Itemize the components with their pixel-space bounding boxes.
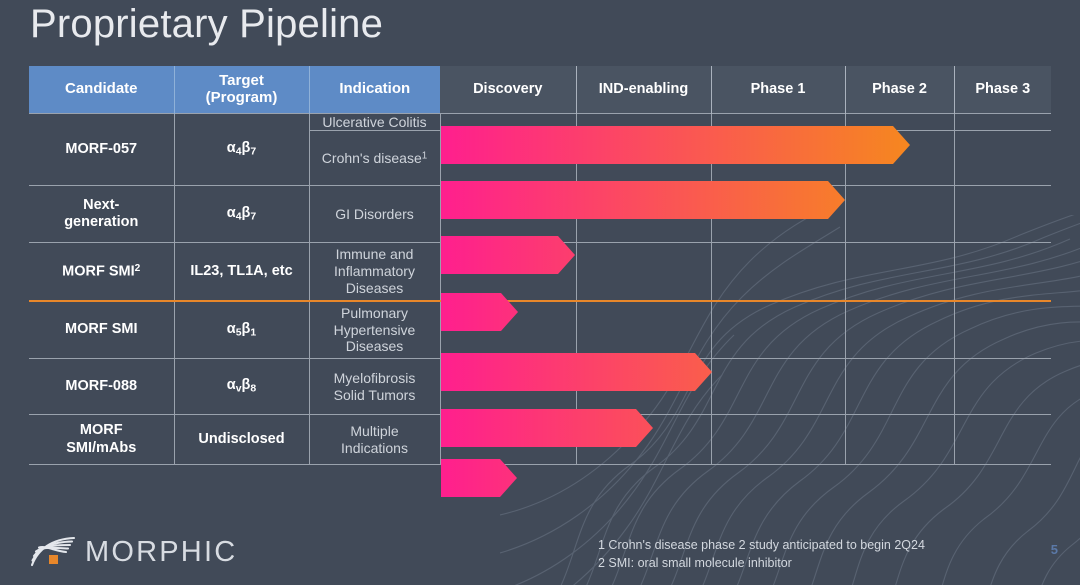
target-beta-sub: 1: [250, 327, 256, 338]
stage-cell: [711, 301, 845, 359]
target-alpha: α: [227, 321, 236, 337]
candidate-label: MORF SMI: [62, 263, 135, 279]
page-title: Proprietary Pipeline: [30, 2, 383, 47]
indication-line1: Myelofibrosis: [310, 370, 440, 387]
stage-cell: [845, 359, 954, 415]
cell-indication-immune-inflammatory: Immune and Inflammatory Diseases: [309, 243, 440, 301]
target-alpha: α: [227, 140, 236, 156]
stage-cell: [440, 301, 576, 359]
cell-candidate-morf-088: MORF-088: [29, 359, 174, 415]
stage-cell: [845, 131, 954, 186]
cell-target-avb8: αvβ8: [174, 359, 309, 415]
stage-cell: [845, 301, 954, 359]
header-stage-phase-1: Phase 1: [711, 66, 845, 113]
indication-line3: Diseases: [310, 338, 440, 355]
stage-cell: [440, 186, 576, 243]
cell-target-next-generation: α4β7: [174, 186, 309, 243]
cell-target-il23: IL23, TL1A, etc: [174, 243, 309, 301]
stage-cell: [440, 243, 576, 301]
morphic-logo: MORPHIC: [30, 535, 237, 569]
indication-label: Crohn's disease: [322, 150, 422, 166]
page-number: 5: [1051, 542, 1058, 557]
stage-cell: [711, 415, 845, 465]
stage-cell: [711, 243, 845, 301]
target-beta-sub: 7: [250, 146, 256, 157]
indication-line1: Pulmonary: [310, 305, 440, 322]
stage-cell: [440, 415, 576, 465]
cell-candidate-morf-057: MORF-057: [29, 113, 174, 186]
stage-cell: [576, 415, 711, 465]
stage-cell: [576, 186, 711, 243]
stage-cell: [954, 415, 1051, 465]
cell-indication-multiple: Multiple Indications: [309, 415, 440, 465]
cell-target-a5b1: α5β1: [174, 301, 309, 359]
stage-cell: [576, 359, 711, 415]
header-target-program: Target (Program): [174, 66, 309, 113]
indication-line2: Indications: [310, 440, 440, 457]
candidate-line1: Next-: [29, 197, 174, 214]
target-alpha: α: [227, 377, 236, 393]
table-row: MORF SMI α5β1 Pulmonary Hypertensive Dis…: [29, 301, 1051, 359]
target-beta-sub: 7: [250, 211, 256, 222]
table-header-row: Candidate Target (Program) Indication Di…: [29, 66, 1051, 113]
stage-cell: [845, 415, 954, 465]
stage-cell: [576, 131, 711, 186]
stage-cell: [711, 113, 845, 131]
header-target-line2: (Program): [175, 89, 309, 107]
header-candidate: Candidate: [29, 66, 174, 113]
cell-candidate-morf-smi-2: MORF SMI2: [29, 243, 174, 301]
footnote-marker: 1: [422, 150, 427, 161]
stage-cell: [845, 243, 954, 301]
header-stage-discovery: Discovery: [440, 66, 576, 113]
table-row: MORF SMI2 IL23, TL1A, etc Immune and Inf…: [29, 243, 1051, 301]
stage-cell: [954, 359, 1051, 415]
cell-indication-ulcerative-colitis: Ulcerative Colitis: [309, 113, 440, 131]
morphic-swoosh-icon: [30, 535, 76, 569]
indication-line2: Hypertensive: [310, 322, 440, 339]
stage-cell: [576, 243, 711, 301]
stage-cell: [954, 186, 1051, 243]
cell-indication-gi-disorders: GI Disorders: [309, 186, 440, 243]
stage-cell: [711, 131, 845, 186]
stage-cell: [440, 359, 576, 415]
stage-cell: [576, 301, 711, 359]
table-row: Next- generation α4β7 GI Disorders: [29, 186, 1051, 243]
stage-cell: [711, 186, 845, 243]
footnote-marker: 2: [135, 263, 141, 274]
table-row: MORF-057 α4β7 Ulcerative Colitis: [29, 113, 1051, 131]
stage-cell: [440, 131, 576, 186]
indication-line2: Inflammatory: [310, 263, 440, 280]
candidate-line2: generation: [29, 214, 174, 231]
header-stage-ind-enabling: IND-enabling: [576, 66, 711, 113]
stage-cell: [845, 113, 954, 131]
table-row: MORF-088 αvβ8 Myelofibrosis Solid Tumors: [29, 359, 1051, 415]
header-stage-phase-2: Phase 2: [845, 66, 954, 113]
morphic-wordmark: MORPHIC: [85, 536, 237, 569]
cell-target-undisclosed: Undisclosed: [174, 415, 309, 465]
stage-cell: [711, 359, 845, 415]
indication-line1: Immune and: [310, 246, 440, 263]
cell-indication-pulmonary-hypertensive: Pulmonary Hypertensive Diseases: [309, 301, 440, 359]
slide-root: Proprietary Pipeline Candidate Target (P…: [0, 0, 1080, 585]
indication-line3: Diseases: [310, 280, 440, 297]
cell-candidate-next-generation: Next- generation: [29, 186, 174, 243]
candidate-line2: SMI/mAbs: [29, 440, 174, 457]
indication-line2: Solid Tumors: [310, 387, 440, 404]
stage-cell: [954, 131, 1051, 186]
target-beta-sub: 8: [250, 384, 256, 395]
header-indication: Indication: [309, 66, 440, 113]
cell-candidate-morf-smi: MORF SMI: [29, 301, 174, 359]
stage-cell: [845, 186, 954, 243]
header-stage-phase-3: Phase 3: [954, 66, 1051, 113]
stage-cell: [440, 113, 576, 131]
stage-cell: [954, 113, 1051, 131]
stage-cell: [576, 113, 711, 131]
indication-line1: Multiple: [310, 423, 440, 440]
pipeline-table: Candidate Target (Program) Indication Di…: [29, 66, 1051, 465]
footnotes: 1 Crohn's disease phase 2 study anticipa…: [598, 536, 925, 574]
candidate-line1: MORF: [29, 422, 174, 439]
table-row: MORF SMI/mAbs Undisclosed Multiple Indic…: [29, 415, 1051, 465]
footnote-2: 2 SMI: oral small molecule inhibitor: [598, 554, 925, 573]
stage-cell: [954, 301, 1051, 359]
cell-target-morf-057: α4β7: [174, 113, 309, 186]
stage-cell: [954, 243, 1051, 301]
header-target-line1: Target: [175, 72, 309, 90]
footnote-1: 1 Crohn's disease phase 2 study anticipa…: [598, 536, 925, 555]
target-alpha: α: [227, 205, 236, 221]
cell-indication-crohns-disease: Crohn's disease1: [309, 131, 440, 186]
cell-indication-myelofibrosis: Myelofibrosis Solid Tumors: [309, 359, 440, 415]
cell-candidate-morf-smi-mabs: MORF SMI/mAbs: [29, 415, 174, 465]
